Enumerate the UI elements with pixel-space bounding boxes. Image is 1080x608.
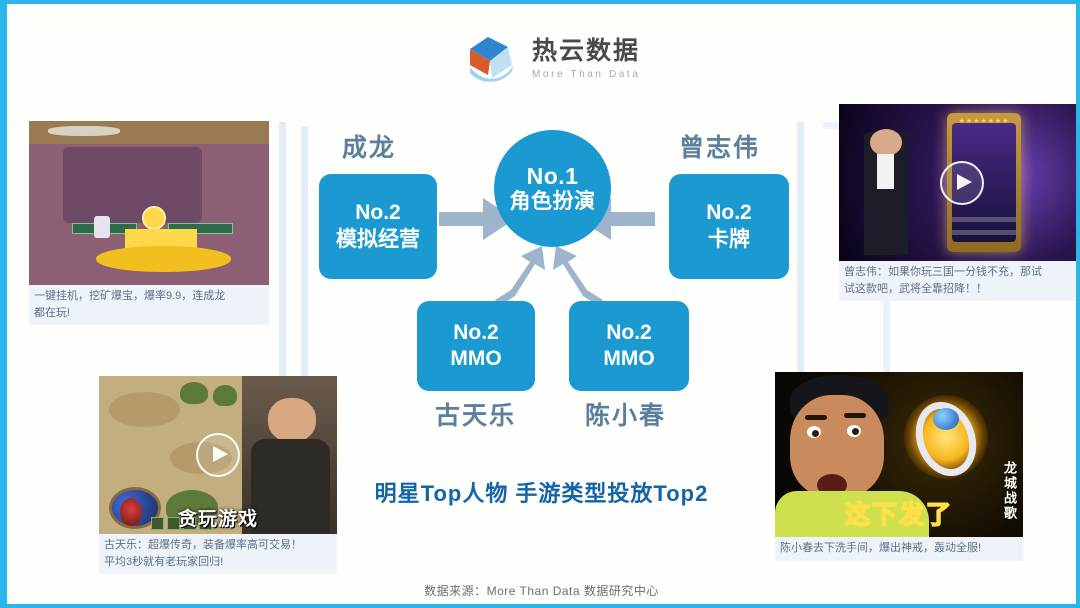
celebrity-body <box>251 439 330 534</box>
diagram-node-mmo-gutianle: No.2 MMO <box>417 301 535 391</box>
node-rank: No.2 <box>355 200 401 226</box>
thumbnail-caption: 曾志伟：如果你玩三国一分钱不充，那试 试这款吧，武将全靠招降！！ <box>839 261 1080 301</box>
thumbnail-caption: 陈小春去下洗手间，爆出神戒，轰动全服! <box>775 537 1023 561</box>
thumbnail-image-mining-game[interactable] <box>29 121 269 285</box>
celebrity-pupil-right <box>852 428 859 435</box>
thumbnail-card-top-right[interactable]: ★★★★★★★ 曾志伟：如果你玩三国一分钱不充，那试 试这款吧，武将全靠招降！！ <box>839 104 1080 301</box>
diagram-node-simulation: No.2 模拟经营 <box>319 174 437 279</box>
magic-ring-gem <box>933 408 959 430</box>
diagram-node-mmo-chenxiaochun: No.2 MMO <box>569 301 689 391</box>
card-stat-row-1 <box>952 217 1016 222</box>
cave-ground <box>29 121 269 144</box>
node-category: 模拟经营 <box>336 227 420 253</box>
node-category: 卡牌 <box>708 227 750 253</box>
caption-line-1: 古天乐：超爆传奇，装备爆率高可交易！ <box>104 539 302 551</box>
play-icon[interactable] <box>196 433 240 477</box>
celebrity-shirt <box>877 154 894 189</box>
celebrity-label-chenxiaochun: 陈小春 <box>585 396 666 432</box>
thumbnail-image-card-game[interactable]: ★★★★★★★ <box>839 104 1080 261</box>
slide-canvas: 热云数据 More Than Data <box>7 4 1076 604</box>
cube-logo-svg <box>462 31 522 87</box>
player-character <box>94 216 110 238</box>
diagram-center-node: No.1 角色扮演 <box>494 130 611 247</box>
celebrity-brow-left <box>805 415 827 420</box>
gold-pile <box>96 246 230 272</box>
node-category: MMO <box>450 346 501 372</box>
slide-page: 热云数据 More Than Data <box>0 0 1080 608</box>
mining-game-art <box>29 121 269 285</box>
terrain-patch-1 <box>109 392 180 427</box>
node-rank: No.2 <box>606 320 652 346</box>
card-stat-row-2 <box>952 230 1016 235</box>
meme-caption-overlay: 这下发了 <box>845 495 953 531</box>
card-star-rating: ★★★★★★★ <box>952 117 1016 125</box>
foliage-2 <box>213 385 237 406</box>
center-category: 角色扮演 <box>510 190 596 215</box>
thumbnail-card-top-left[interactable]: 一键挂机，挖矿爆宝，爆率9.9，连成龙 都在玩! <box>29 121 269 325</box>
ring-meme-art: 龙城战歌 这下发了 <box>775 372 1023 537</box>
celebrity-brow-right <box>844 413 866 418</box>
caption-line-2: 试这款吧，武将全靠招降！！ <box>844 281 1080 298</box>
celebrity-label-chenglong: 成龙 <box>342 128 396 164</box>
diagram-node-card: No.2 卡牌 <box>669 174 789 279</box>
celebrity-head <box>870 129 902 156</box>
center-rank: No.1 <box>527 163 579 190</box>
cube-logo-icon <box>462 31 522 87</box>
game-brand-overlay: 贪玩游戏 <box>178 504 258 531</box>
magic-ring-glow <box>904 395 988 479</box>
celebrity-face <box>268 398 316 442</box>
brand-tagline: More Than Data <box>532 70 640 80</box>
caption-line-1: 陈小春去下洗手间，爆出神戒，轰动全服! <box>780 542 981 554</box>
thumbnail-image-ring-meme[interactable]: 龙城战歌 这下发了 <box>775 372 1023 537</box>
brand-name-cn: 热云数据 <box>532 39 640 64</box>
foliage-1 <box>180 382 209 404</box>
thumbnail-caption: 一键挂机，挖矿爆宝，爆率9.9，连成龙 都在玩! <box>29 285 269 325</box>
celebrity-pupil-left <box>812 430 819 437</box>
decor-line-left-inner-2 <box>301 126 308 416</box>
thumbnail-image-mmo-game[interactable]: 贪玩游戏 <box>99 376 337 534</box>
thumbnail-card-bottom-left[interactable]: 贪玩游戏 古天乐：超爆传奇，装备爆率高可交易！ 平均3秒就有老玩家回归! <box>99 376 337 574</box>
data-source-footer: 数据来源：More Than Data 数据研究中心 <box>7 582 1076 599</box>
celebrity-label-zengzhiwei: 曾志伟 <box>679 128 760 164</box>
caption-line-2: 平均3秒就有老玩家回归! <box>104 554 332 571</box>
caption-line-1: 一键挂机，挖矿爆宝，爆率9.9，连成龙 <box>34 290 225 302</box>
caption-line-1: 曾志伟：如果你玩三国一分钱不充，那试 <box>844 266 1042 278</box>
brand-logo-text: 热云数据 More Than Data <box>532 39 640 80</box>
celebrity-label-gutianle: 古天乐 <box>435 396 516 432</box>
node-rank: No.2 <box>453 320 499 346</box>
node-rank: No.2 <box>706 200 752 226</box>
thumbnail-card-bottom-right[interactable]: 龙城战歌 这下发了 陈小春去下洗手间，爆出神戒，轰动全服! <box>775 372 1023 561</box>
game-title-vertical: 龙城战歌 <box>1000 461 1019 521</box>
cave-wall <box>63 147 202 222</box>
play-icon[interactable] <box>940 161 984 205</box>
coin-icon <box>142 206 166 230</box>
thumbnail-caption: 古天乐：超爆传奇，装备爆率高可交易！ 平均3秒就有老玩家回归! <box>99 534 337 574</box>
brand-logo: 热云数据 More Than Data <box>462 26 702 92</box>
caption-line-2: 都在玩! <box>34 305 264 322</box>
node-category: MMO <box>603 346 654 372</box>
